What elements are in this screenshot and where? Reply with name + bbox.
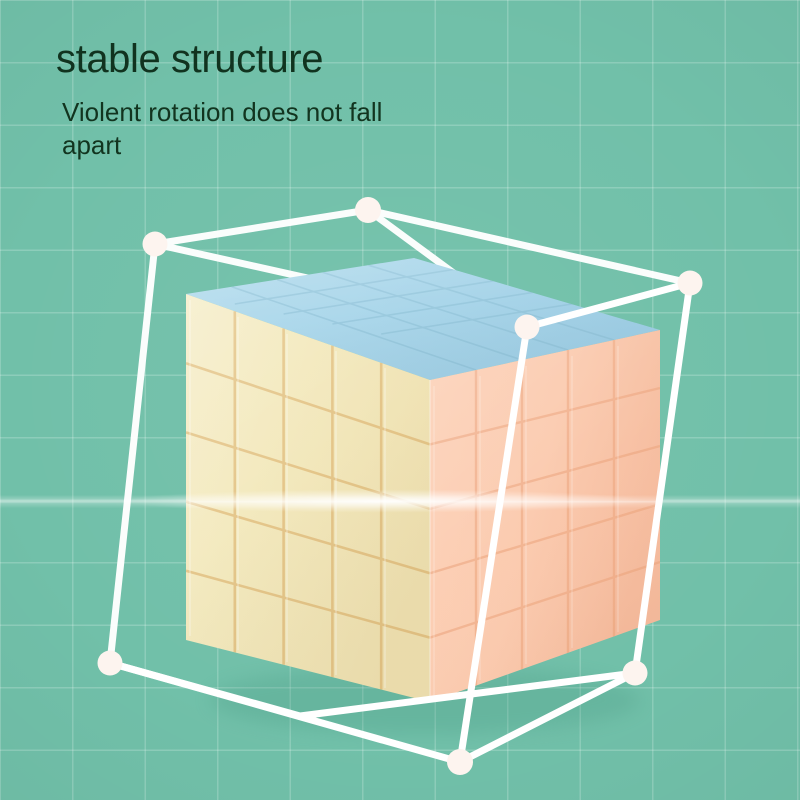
node-top-back-right bbox=[355, 197, 381, 223]
node-bottom-back-left bbox=[98, 651, 123, 676]
cube-illustration bbox=[0, 0, 800, 800]
cube-right-face bbox=[430, 330, 660, 702]
cube-body bbox=[186, 258, 660, 702]
node-top-back-left bbox=[143, 232, 168, 257]
node-bottom-far-right bbox=[623, 661, 648, 686]
promo-banner: stable structure Violent rotation does n… bbox=[0, 0, 800, 800]
node-bottom-front-left bbox=[447, 749, 473, 775]
node-top-far-right bbox=[678, 271, 703, 296]
node-top-front-right bbox=[515, 315, 540, 340]
